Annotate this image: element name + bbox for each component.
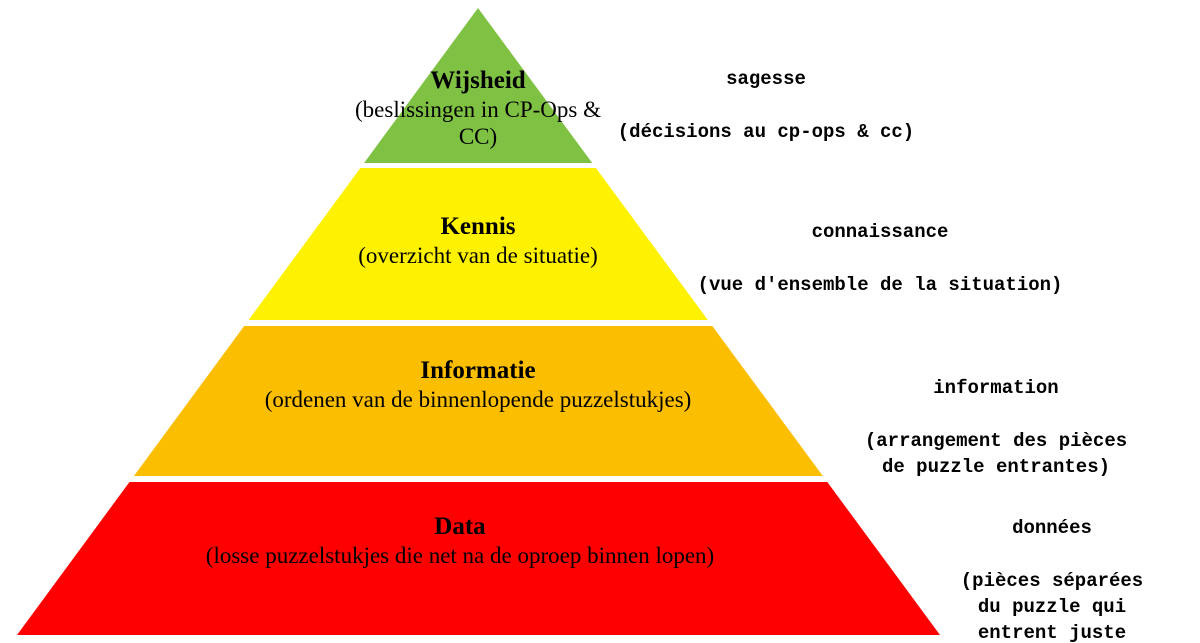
pyramid-shape — [0, 0, 1200, 643]
tier-band-knowledge — [0, 168, 1200, 320]
tier-band-information — [0, 326, 1200, 476]
dikw-pyramid-diagram: Wijsheid (beslissingen in CP-Ops & CC) K… — [0, 0, 1200, 643]
tier-band-data — [0, 482, 1200, 643]
tier-band-wisdom — [0, 0, 1200, 163]
